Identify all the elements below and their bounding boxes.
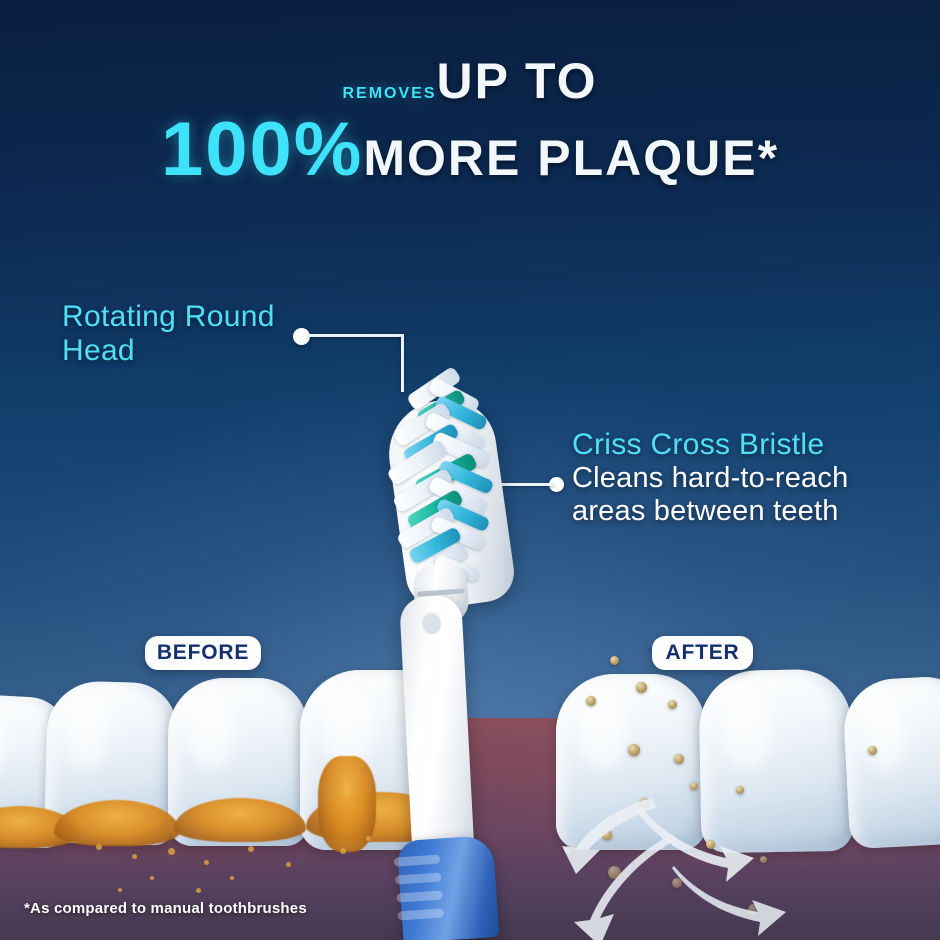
plaque-particle <box>736 786 744 794</box>
electric-toothbrush <box>356 368 542 940</box>
plaque-particle <box>586 696 596 706</box>
toothbrush-rubber-grip <box>397 835 500 940</box>
cleaning-arrow-right-lower <box>672 860 802 940</box>
headline-up-to: UP TO <box>437 53 598 109</box>
plaque-speck <box>230 876 234 880</box>
headline-line-1: REMOVESUP TO <box>0 56 940 106</box>
plaque-particle <box>690 782 698 790</box>
footnote-disclaimer: *As compared to manual toothbrushes <box>24 900 307 917</box>
leader-line-rotating-head-horizontal <box>308 334 404 337</box>
plaque-speck <box>286 862 291 867</box>
plaque-speck <box>168 848 175 855</box>
plaque-speck <box>132 854 137 859</box>
plaque-speck <box>204 860 209 865</box>
headline-percent: 100% <box>161 107 363 192</box>
plaque-particle <box>636 682 647 693</box>
plaque-speck <box>340 848 346 854</box>
callout-criss-cross-bristle: Criss Cross Bristle Cleans hard-to-reach… <box>572 428 922 528</box>
plaque-speck <box>96 844 102 850</box>
grip-rib <box>396 890 443 902</box>
grip-rib <box>394 855 441 867</box>
promo-image: REMOVESUP TO 100%MORE PLAQUE* Rotating R… <box>0 0 940 940</box>
grip-rib <box>397 908 444 920</box>
callout-bristle-title: Criss Cross Bristle <box>572 428 922 462</box>
plaque-speck <box>118 888 122 892</box>
plaque-speck <box>248 846 254 852</box>
grip-rib <box>395 872 442 884</box>
badge-before: BEFORE <box>145 636 261 670</box>
callout-head-title-line1: Rotating Round <box>62 300 362 334</box>
callout-bristle-body-line1: Cleans hard-to-reach <box>572 462 922 495</box>
badge-after: AFTER <box>652 636 753 670</box>
plaque-particle <box>674 754 684 764</box>
headline-block: REMOVESUP TO 100%MORE PLAQUE* <box>0 56 940 188</box>
callout-head-title-line2: Head <box>62 334 362 368</box>
plaque-particle <box>668 700 677 709</box>
plaque-particle <box>628 744 640 756</box>
plaque-particle <box>610 656 619 665</box>
plaque-speck <box>150 876 154 880</box>
headline-more-plaque: MORE PLAQUE* <box>363 130 779 186</box>
plaque-particle <box>868 746 877 755</box>
tooth-after-3 <box>842 675 940 849</box>
plaque-speck <box>196 888 201 893</box>
headline-removes: REMOVES <box>343 85 437 102</box>
callout-bristle-body-line2: areas between teeth <box>572 495 922 528</box>
headline-line-2: 100%MORE PLAQUE* <box>0 112 940 188</box>
